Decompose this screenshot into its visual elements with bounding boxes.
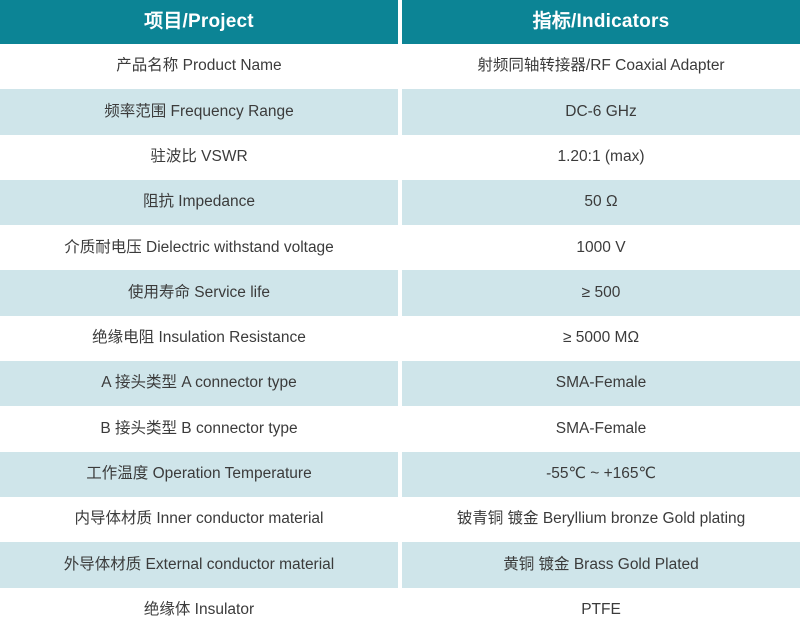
row-label: A 接头类型 A connector type: [0, 361, 398, 406]
table-row: 内导体材质 Inner conductor material 铍青铜 镀金 Be…: [0, 497, 800, 542]
column-header-project: 项目/Project: [0, 0, 398, 44]
table-row: B 接头类型 B connector type SMA-Female: [0, 406, 800, 451]
table-row: 绝缘电阻 Insulation Resistance ≥ 5000 MΩ: [0, 316, 800, 361]
row-value: DC-6 GHz: [402, 89, 800, 134]
row-label: 产品名称 Product Name: [0, 44, 398, 89]
column-header-indicators: 指标/Indicators: [402, 0, 800, 44]
row-label: 内导体材质 Inner conductor material: [0, 497, 398, 542]
table-row: 驻波比 VSWR 1.20:1 (max): [0, 135, 800, 180]
table-header-row: 项目/Project 指标/Indicators: [0, 0, 800, 44]
table-row: 使用寿命 Service life ≥ 500: [0, 270, 800, 315]
row-label: 绝缘体 Insulator: [0, 588, 398, 633]
table-row: A 接头类型 A connector type SMA-Female: [0, 361, 800, 406]
row-value: PTFE: [402, 588, 800, 633]
row-value: 50 Ω: [402, 180, 800, 225]
row-label: B 接头类型 B connector type: [0, 406, 398, 451]
row-label: 介质耐电压 Dielectric withstand voltage: [0, 225, 398, 270]
table-row: 产品名称 Product Name 射频同轴转接器/RF Coaxial Ada…: [0, 44, 800, 89]
row-label: 驻波比 VSWR: [0, 135, 398, 180]
row-value: -55℃ ~ +165℃: [402, 452, 800, 497]
row-label: 外导体材质 External conductor material: [0, 542, 398, 587]
row-value: 射频同轴转接器/RF Coaxial Adapter: [402, 44, 800, 89]
specification-table: 项目/Project 指标/Indicators 产品名称 Product Na…: [0, 0, 800, 633]
row-label: 频率范围 Frequency Range: [0, 89, 398, 134]
row-value: 黄铜 镀金 Brass Gold Plated: [402, 542, 800, 587]
row-label: 绝缘电阻 Insulation Resistance: [0, 316, 398, 361]
row-label: 工作温度 Operation Temperature: [0, 452, 398, 497]
row-value: SMA-Female: [402, 361, 800, 406]
table-row: 工作温度 Operation Temperature -55℃ ~ +165℃: [0, 452, 800, 497]
table-row: 外导体材质 External conductor material 黄铜 镀金 …: [0, 542, 800, 587]
row-label: 阻抗 Impedance: [0, 180, 398, 225]
row-value: 1.20:1 (max): [402, 135, 800, 180]
table-row: 绝缘体 Insulator PTFE: [0, 588, 800, 633]
table-row: 介质耐电压 Dielectric withstand voltage 1000 …: [0, 225, 800, 270]
row-value: ≥ 500: [402, 270, 800, 315]
row-value: 铍青铜 镀金 Beryllium bronze Gold plating: [402, 497, 800, 542]
row-label: 使用寿命 Service life: [0, 270, 398, 315]
table-row: 阻抗 Impedance 50 Ω: [0, 180, 800, 225]
table-row: 频率范围 Frequency Range DC-6 GHz: [0, 89, 800, 134]
row-value: SMA-Female: [402, 406, 800, 451]
row-value: ≥ 5000 MΩ: [402, 316, 800, 361]
row-value: 1000 V: [402, 225, 800, 270]
